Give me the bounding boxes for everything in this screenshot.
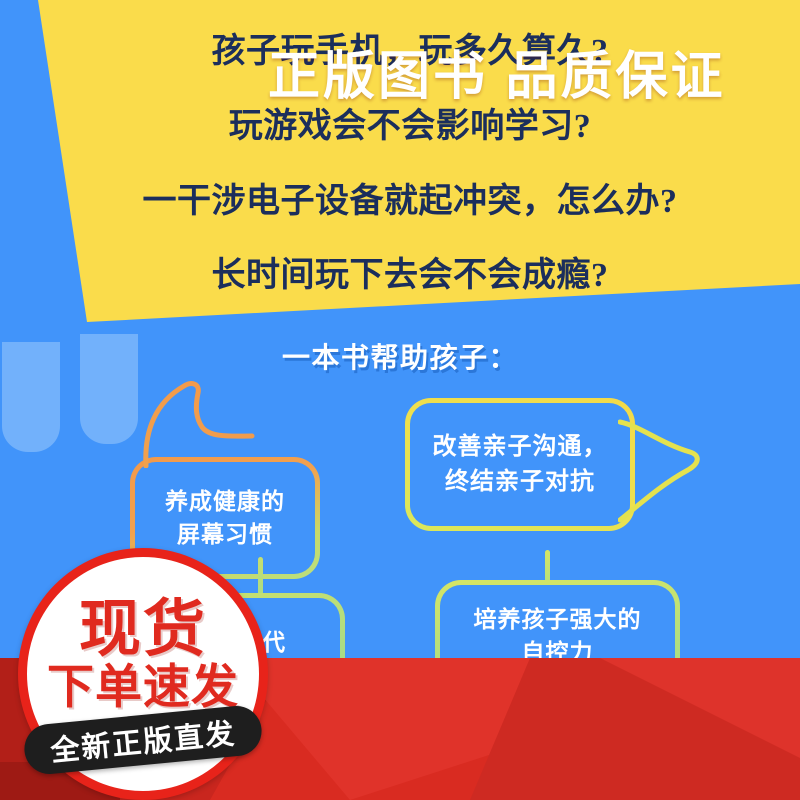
bubble-habit-text: 养成健康的 屏幕习惯 — [155, 485, 295, 552]
section-heading: 一本书帮助孩子： — [0, 336, 800, 376]
bubble-comm: 改善亲子沟通， 终结亲子对抗 — [405, 398, 635, 531]
bubble-comm-line-1: 改善亲子沟通， — [433, 430, 608, 465]
bubble-habit-line-1: 养成健康的 — [165, 485, 285, 518]
stock-badge: 现货 下单速发 全新正版直发 — [18, 548, 268, 800]
headline-question-4: 长时间玩下去会不会成瘾? — [212, 258, 609, 294]
bubble-control-connector — [545, 550, 550, 584]
banner-slogan: 正版图书 品质保证 — [268, 0, 788, 142]
bubble-comm-line-2: 终结亲子对抗 — [433, 465, 608, 500]
bubble-comm-text: 改善亲子沟通， 终结亲子对抗 — [423, 430, 618, 500]
headline-question-3: 一干涉电子设备就起冲突，怎么办? — [143, 184, 678, 220]
bubble-comm-tail-icon — [618, 418, 704, 524]
bubble-habit-tail-icon — [140, 380, 260, 468]
bubble-control-line-1: 培养孩子强大的 — [474, 603, 642, 636]
bubble-habit-line-2: 屏幕习惯 — [165, 518, 285, 551]
poster-canvas: 孩子玩手机，玩多久算久? 玩游戏会不会影响学习? 一干涉电子设备就起冲突，怎么办… — [0, 0, 800, 800]
